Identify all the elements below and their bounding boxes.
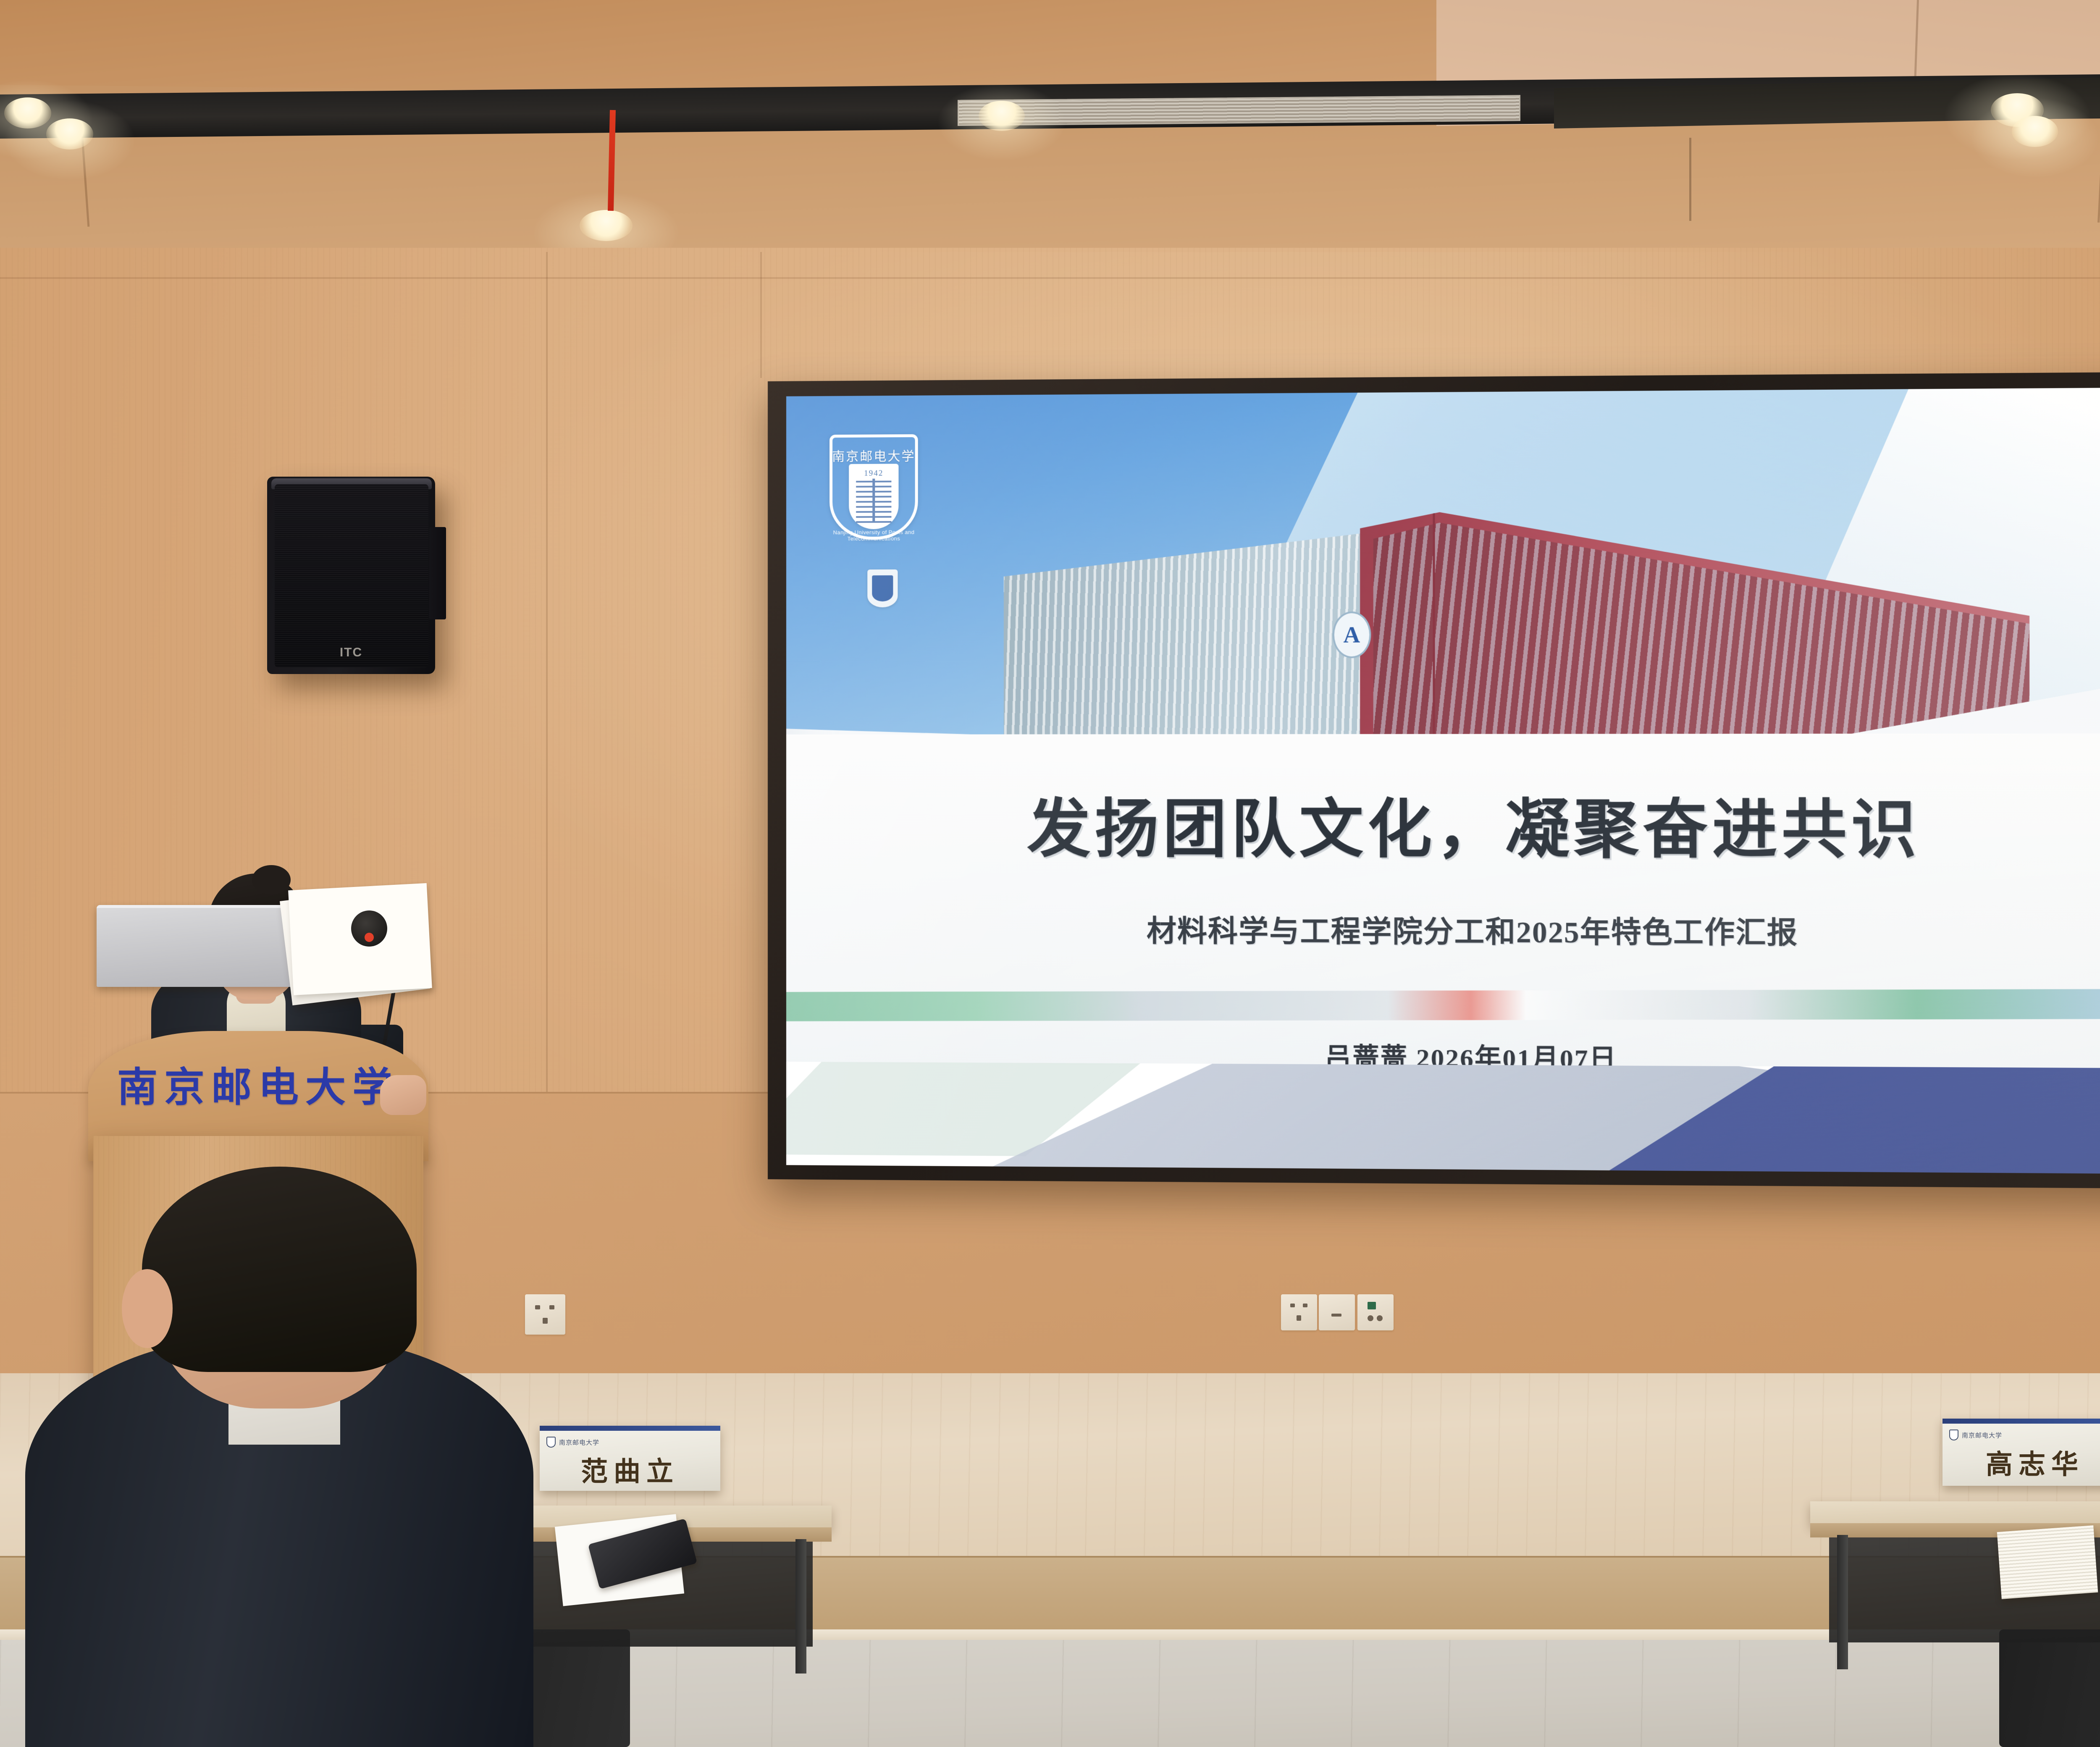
nameplate-shield-icon: [546, 1437, 556, 1448]
seated-ear: [122, 1269, 173, 1348]
ceiling-hanger-wire: [1689, 138, 1691, 221]
seated-hair: [142, 1167, 416, 1372]
nameplate-shield-icon: [1949, 1430, 1958, 1440]
outlet-hole: [1297, 1315, 1301, 1321]
seated-person-left: [25, 1142, 533, 1747]
building-round-logo: A: [1333, 611, 1371, 658]
microphone-head[interactable]: [351, 910, 387, 947]
downlight-2: [46, 118, 93, 150]
document-stack-right[interactable]: [1997, 1525, 2098, 1599]
nameplate-org-text: 南京邮电大学: [559, 1438, 599, 1447]
nameplate-name-left: 范曲立: [540, 1450, 720, 1489]
switch-slot: [1331, 1314, 1341, 1317]
speaker-mount-bracket: [429, 527, 446, 619]
projection-screen-frame: A 南京邮电大学 1942 Nanjing University of Post…: [768, 372, 2100, 1188]
av-jack-left: [1368, 1315, 1373, 1321]
table-leg-left: [1837, 1535, 1848, 1669]
wall-switch-plate[interactable]: [1319, 1294, 1355, 1330]
building-crest-sign: [868, 569, 898, 607]
nameplate-org-text: 南京邮电大学: [1962, 1431, 2002, 1440]
slide-banner-image: A: [786, 387, 2100, 758]
presenter-hand: [380, 1075, 426, 1115]
speaker-brand-label: ITC: [340, 645, 362, 660]
slide-subtitle: 材料科学与工程学院分工和2025年特色工作汇报: [786, 907, 2100, 953]
microphone-led-indicator: [365, 933, 374, 942]
outlet-hole: [549, 1305, 554, 1309]
network-jack: [1368, 1302, 1376, 1309]
nameplate-top-strip: [540, 1426, 720, 1431]
downlight-6: [580, 210, 633, 241]
av-jack-right: [1377, 1315, 1383, 1321]
meeting-room-photo: ITC ITC A: [0, 0, 2100, 1747]
table-leg-right: [795, 1539, 806, 1674]
downlight-5: [2012, 116, 2058, 147]
wall-network-port[interactable]: [1357, 1294, 1394, 1330]
podium-laptop[interactable]: [97, 905, 294, 987]
downlight-3: [979, 101, 1025, 131]
projection-screen[interactable]: A 南京邮电大学 1942 Nanjing University of Post…: [786, 387, 2100, 1174]
building-corner-edge: [1433, 512, 1435, 758]
wall-seam-2: [760, 252, 762, 378]
speaker-grille: [275, 484, 428, 667]
slide-decorative-band: [786, 980, 2100, 1028]
wall-outlet-power-center[interactable]: [1281, 1294, 1317, 1330]
outlet-hole: [1303, 1304, 1307, 1307]
logo-chinese-name: 南京邮电大学: [829, 446, 918, 464]
nameplate-right: 南京邮电大学 高志华: [1942, 1419, 2100, 1486]
slide-footer-graphic: [786, 1062, 2100, 1174]
nameplate-top-strip: [1942, 1419, 2100, 1424]
podium-speech-papers[interactable]: [280, 884, 430, 1005]
outlet-hole: [1290, 1304, 1295, 1307]
wall-speaker-left: ITC: [267, 477, 435, 674]
logo-english-name: Nanjing University of Posts and Telecomm…: [824, 529, 924, 542]
outlet-hole: [535, 1305, 540, 1309]
university-logo: 南京邮电大学 1942 Nanjing University of Posts …: [829, 434, 918, 539]
logo-emblem-mark: [856, 478, 891, 523]
nameplate-left: 南京邮电大学 范曲立: [540, 1426, 720, 1491]
wall-seam-horizontal: [0, 277, 2100, 279]
slide-title: 发扬团队文化，凝聚奋进共识: [786, 778, 2100, 871]
nameplate-logo: 南京邮电大学: [1949, 1430, 2002, 1440]
nameplate-logo: 南京邮电大学: [546, 1437, 599, 1448]
table-top-surface: [1810, 1501, 2100, 1526]
logo-founding-year: 1942: [829, 469, 918, 478]
slide-text-area: 发扬团队文化，凝聚奋进共识 材料科学与工程学院分工和2025年特色工作汇报 吕蔷…: [786, 734, 2100, 1174]
outlet-hole: [543, 1318, 548, 1324]
crest-inner: [872, 575, 893, 601]
presenter-hair-bun: [252, 865, 291, 894]
podium-university-text: 南京邮电大学: [88, 1054, 428, 1113]
nameplate-name-right: 高志华: [1942, 1443, 2100, 1482]
